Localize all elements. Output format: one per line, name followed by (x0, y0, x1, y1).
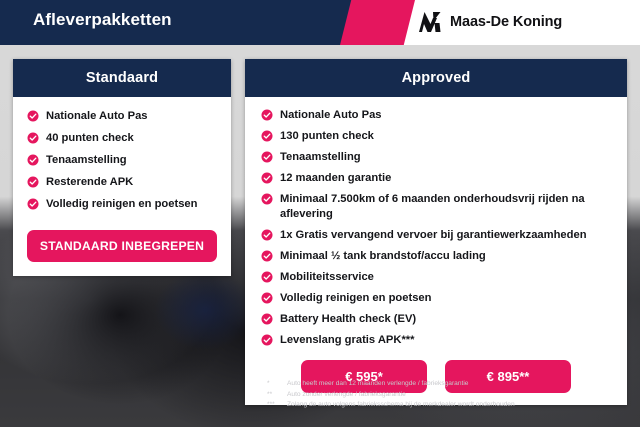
feature-label: Levenslang gratis APK*** (280, 333, 415, 348)
feature-label: 40 punten check (46, 131, 134, 146)
feature-label: Mobiliteitsservice (280, 270, 374, 285)
check-circle-icon (27, 176, 39, 188)
feature-list-standaard: Nationale Auto Pas 40 punten check Tenaa… (27, 109, 217, 212)
feature-label: Tenaamstelling (46, 153, 127, 168)
standaard-inbegrepen-button[interactable]: STANDAARD INBEGREPEN (27, 230, 217, 262)
check-circle-icon (261, 172, 273, 184)
page-root: Afleverpakketten Maas-De Koning Standaar… (0, 0, 640, 427)
feature-label: 1x Gratis vervangend vervoer bij garanti… (280, 228, 587, 243)
list-item: Mobiliteitsservice (261, 270, 611, 285)
footnote-marker: ** (267, 390, 287, 401)
list-item: Volledig reinigen en poetsen (27, 197, 217, 212)
list-item: 1x Gratis vervangend vervoer bij garanti… (261, 228, 611, 243)
maas-de-koning-m-logo-icon (418, 11, 443, 33)
check-circle-icon (261, 313, 273, 325)
feature-label: Nationale Auto Pas (46, 109, 148, 124)
footnote-text: Auto zonder verlengde / fabrieksgarantie (287, 390, 627, 401)
list-item: Minimaal 7.500km of 6 maanden onderhouds… (261, 192, 611, 222)
card-title-approved: Approved (245, 59, 627, 97)
card-body-approved: Nationale Auto Pas 130 punten check Tena… (245, 97, 627, 405)
feature-label: Minimaal ½ tank brandstof/accu lading (280, 249, 486, 264)
feature-label: 12 maanden garantie (280, 171, 391, 186)
footnote-marker: * (267, 379, 287, 390)
check-circle-icon (261, 334, 273, 346)
check-circle-icon (27, 154, 39, 166)
check-circle-icon (261, 271, 273, 283)
feature-list-approved: Nationale Auto Pas 130 punten check Tena… (261, 108, 611, 348)
card-title-standaard: Standaard (13, 59, 231, 97)
feature-label: Resterende APK (46, 175, 133, 190)
page-title: Afleverpakketten (33, 10, 172, 30)
list-item: Levenslang gratis APK*** (261, 333, 611, 348)
check-circle-icon (261, 193, 273, 205)
footnote-text: Auto heeft meer dan 12 maanden verlengde… (287, 379, 627, 390)
footnote-row: *** Zolang de auto volgens fabrieksschem… (267, 400, 627, 411)
list-item: 130 punten check (261, 129, 611, 144)
list-item: Battery Health check (EV) (261, 312, 611, 327)
footnote-row: ** Auto zonder verlengde / fabrieksgaran… (267, 390, 627, 401)
feature-label: Volledig reinigen en poetsen (280, 291, 431, 306)
feature-label: 130 punten check (280, 129, 374, 144)
feature-label: Tenaamstelling (280, 150, 361, 165)
list-item: Nationale Auto Pas (261, 108, 611, 123)
check-circle-icon (261, 250, 273, 262)
check-circle-icon (27, 132, 39, 144)
pricing-card-approved: Approved Nationale Auto Pas 130 punten c… (245, 59, 627, 405)
list-item: Volledig reinigen en poetsen (261, 291, 611, 306)
feature-label: Minimaal 7.500km of 6 maanden onderhouds… (280, 192, 611, 222)
feature-label: Nationale Auto Pas (280, 108, 382, 123)
brand-name: Maas-De Koning (450, 14, 562, 30)
card-body-standaard: Nationale Auto Pas 40 punten check Tenaa… (13, 97, 231, 276)
list-item: Tenaamstelling (27, 153, 217, 168)
check-circle-icon (261, 130, 273, 142)
check-circle-icon (27, 110, 39, 122)
pricing-card-standaard: Standaard Nationale Auto Pas 40 punten c… (13, 59, 231, 276)
footnote-text: Zolang de auto volgens fabrieksschema bi… (287, 400, 627, 411)
check-circle-icon (27, 198, 39, 210)
footnote-row: * Auto heeft meer dan 12 maanden verleng… (267, 379, 627, 390)
check-circle-icon (261, 109, 273, 121)
footnote-marker: *** (267, 400, 287, 411)
list-item: 40 punten check (27, 131, 217, 146)
check-circle-icon (261, 151, 273, 163)
list-item: 12 maanden garantie (261, 171, 611, 186)
check-circle-icon (261, 229, 273, 241)
footnotes: * Auto heeft meer dan 12 maanden verleng… (267, 379, 627, 411)
list-item: Minimaal ½ tank brandstof/accu lading (261, 249, 611, 264)
list-item: Resterende APK (27, 175, 217, 190)
top-bar-pink-band (340, 0, 415, 45)
list-item: Nationale Auto Pas (27, 109, 217, 124)
brand-logo: Maas-De Koning (418, 11, 562, 33)
top-bar: Afleverpakketten Maas-De Koning (0, 0, 640, 45)
feature-label: Volledig reinigen en poetsen (46, 197, 197, 212)
check-circle-icon (261, 292, 273, 304)
feature-label: Battery Health check (EV) (280, 312, 416, 327)
list-item: Tenaamstelling (261, 150, 611, 165)
